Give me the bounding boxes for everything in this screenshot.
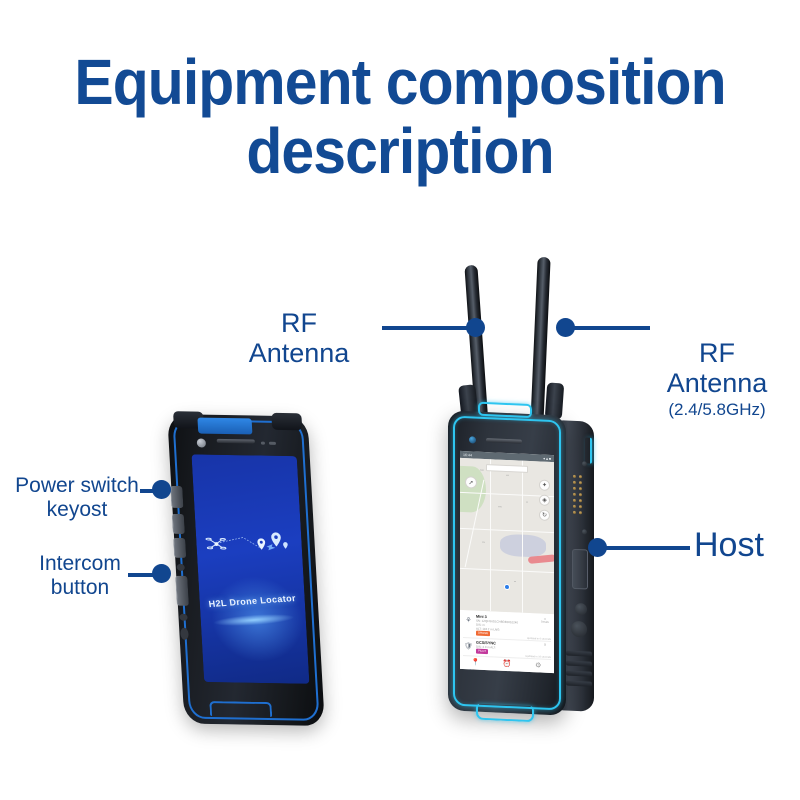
splash-app-title: H2L Drone Locator (199, 593, 305, 610)
side-button-volume-up[interactable] (172, 514, 185, 534)
map-label-4: ▪▪ (526, 501, 528, 504)
side-port-lowest (180, 628, 189, 640)
proximity-sensor (261, 442, 265, 445)
side-screw-lower (582, 529, 587, 534)
callout-intercom-label: Intercom button (20, 552, 140, 599)
device-right-screen[interactable]: 16:44 ●▲■ ▪▪▪▪ ▪▪▪ ▪▪▪▪ ▪▪ (460, 451, 554, 673)
map-label-3: ▪▪▪▪ (498, 506, 502, 509)
map-view[interactable]: ▪▪▪▪ ▪▪▪ ▪▪▪▪ ▪▪ ▪▪▪ ▪▪ ➚ ✦ ◈ ↻ (460, 458, 554, 614)
map-highlight-route (528, 554, 554, 564)
compass-icon[interactable]: ➚ (465, 476, 477, 489)
device-left-front-view: H2L Drone Locator (167, 414, 325, 726)
map-road-2 (460, 528, 554, 534)
status-badge: DRONE (476, 631, 490, 637)
list-item[interactable]: ⚘ Mini 3 SN: 1ZQFG6D1CHBDE0010240 DIS: m… (463, 612, 551, 642)
poster-canvas: Equipment composition description (0, 0, 800, 800)
drone-icon: ⚘ (463, 614, 474, 625)
tab-setting[interactable]: ⚙ Setting (523, 662, 554, 673)
map-road-5 (522, 461, 523, 613)
callout-power-switch-label: Power switch keyost (14, 474, 140, 521)
callout-rf-antenna-left-dot (466, 318, 485, 337)
callout-rf-antenna-right-text: RF Antenna (667, 338, 768, 398)
map-road-4 (490, 459, 491, 611)
list-item-details-label: Details (541, 621, 549, 624)
page-title: Equipment composition description (32, 48, 768, 186)
earpiece-speaker (217, 439, 255, 444)
top-handle-trim (478, 402, 532, 418)
device-left-top-cap-right (271, 413, 302, 430)
refresh-icon[interactable]: ↻ (539, 509, 550, 520)
status-badge: PILOT (476, 649, 488, 655)
side-button-power-switch[interactable] (170, 486, 183, 508)
side-button-volume-down[interactable] (173, 538, 186, 558)
pilot-icon: 🛡 (463, 640, 474, 651)
clock-icon: ⏰ (491, 660, 522, 669)
side-ptt-button[interactable] (572, 549, 588, 590)
gear-icon: ⚙ (523, 662, 554, 671)
side-button-intercom[interactable] (175, 576, 189, 606)
drone-locator-splash-art (203, 514, 295, 575)
status-bar-time: 16:44 (463, 453, 472, 457)
callout-rf-antenna-right-subtext: (2.4/5.8GHz) (638, 400, 796, 419)
side-screw-upper (582, 461, 587, 466)
callout-rf-antenna-left-label: RF Antenna (224, 308, 374, 368)
grip-rib-2 (566, 661, 592, 667)
side-antenna-port (571, 621, 587, 638)
callout-rf-antenna-right-label: RF Antenna (2.4/5.8GHz) (638, 308, 796, 449)
list-item-updated: Updated in 10 seconds (525, 655, 551, 659)
detection-list: ⚘ Mini 3 SN: 1ZQFG6D1CHBDE0010240 DIS: m… (460, 610, 554, 660)
grip-rib-1 (566, 651, 592, 657)
callout-rf-antenna-left-line (382, 326, 470, 330)
callout-host-label: Host (694, 526, 794, 564)
map-road-3 (460, 568, 554, 573)
map-label-2: ▪▪▪ (506, 474, 509, 477)
grip-rib-3 (566, 671, 592, 677)
device-left-bottom-handle (209, 701, 272, 717)
locate-icon[interactable]: ✦ (539, 479, 550, 490)
callout-power-switch-dot (152, 480, 171, 499)
map-label-1: ▪▪▪▪ (480, 469, 484, 472)
side-microphone-port (177, 564, 185, 571)
ptt-button-top[interactable] (197, 418, 252, 435)
grip-rib-4 (566, 681, 592, 687)
device-right-body: 16:44 ●▲■ ▪▪▪▪ ▪▪▪ ▪▪▪▪ ▪▪ (448, 410, 566, 715)
bottom-handle-trim (476, 704, 534, 723)
splash-glow (213, 612, 294, 628)
side-trim-accent (585, 437, 592, 463)
pogo-pin-connector (572, 473, 585, 520)
side-port-lower (179, 614, 187, 621)
callout-intercom-dot (152, 564, 171, 583)
side-dial-knob[interactable] (575, 603, 587, 616)
front-camera-icon (197, 438, 207, 447)
map-label-6: ▪▪ (514, 580, 516, 583)
list-item-details-button[interactable]: ▢ Details (539, 617, 551, 639)
status-bar-icons: ●▲■ (543, 456, 551, 460)
front-camera-icon (469, 436, 476, 443)
map-search-bar[interactable] (486, 464, 528, 473)
map-label-5: ▪▪▪ (482, 541, 485, 544)
layers-icon[interactable]: ◈ (539, 494, 550, 505)
device-left-screen[interactable]: H2L Drone Locator (191, 454, 309, 683)
light-sensor (269, 442, 276, 445)
callout-host-line (600, 546, 690, 550)
current-location-marker (504, 584, 510, 590)
pin-icon: 📍 (460, 659, 491, 668)
